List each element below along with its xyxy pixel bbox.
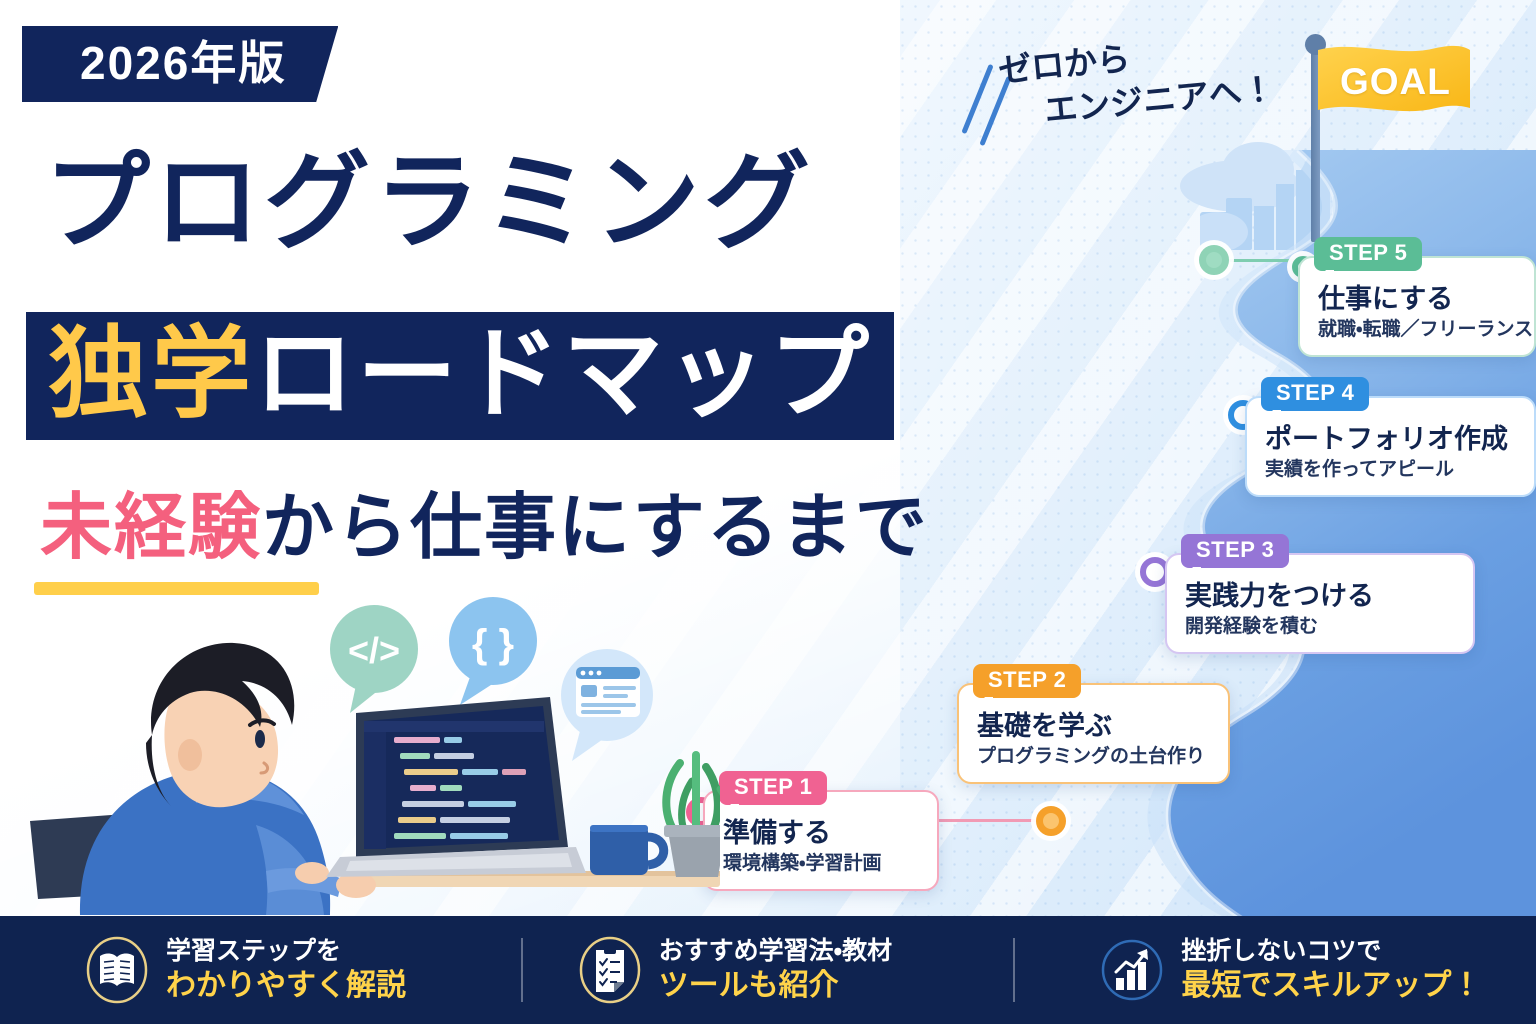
potted-plant xyxy=(664,755,720,877)
step-card-3[interactable]: STEP 3 実践力をつける 開発経験を積む xyxy=(1165,553,1475,654)
connector-step1-step2 xyxy=(938,819,1043,822)
step-card-1[interactable]: STEP 1 準備する 環境構築・学習計画 xyxy=(703,790,939,891)
step-sub-3: 開発経験を積む xyxy=(1185,616,1455,639)
step-badge-4: STEP 4 xyxy=(1261,377,1369,411)
programmer-illustration: </> { } xyxy=(20,585,720,915)
coffee-mug xyxy=(590,825,664,875)
subtitle-rest: から仕事にするまで xyxy=(262,488,929,568)
infographic-canvas: 2026年版 プログラミング 独学ロードマップ 未経験から仕事にするまで ゼロか… xyxy=(0,0,1536,1024)
svg-text:</>: </> xyxy=(348,630,400,671)
connector-step5 xyxy=(1226,259,1298,262)
route-node-step2 xyxy=(1036,806,1066,836)
ear xyxy=(178,739,202,771)
laptop xyxy=(326,697,586,877)
year-badge: 2026年版 xyxy=(22,26,338,102)
route-node-step5 xyxy=(1199,245,1229,275)
step-title-3: 実践力をつける xyxy=(1185,581,1455,611)
step-sub-5: 就職・転職／フリーランス xyxy=(1318,319,1516,342)
feature-item-1: 学習ステップを わかりやすく解説 xyxy=(0,936,521,1004)
feature-text-3: 挫折しないコツで 最短でスキルアップ！ xyxy=(1181,937,1481,1003)
subtitle-accent: 未経験 xyxy=(40,488,262,568)
growth-chart-icon xyxy=(1101,936,1163,1004)
step-title-2: 基礎を学ぶ xyxy=(977,711,1210,741)
feature-line2-2: ツールも紹介 xyxy=(659,969,893,1004)
goal-flag: GOAL xyxy=(1318,44,1470,126)
goal-flag-label: GOAL xyxy=(1340,63,1451,100)
step-badge-5: STEP 5 xyxy=(1314,237,1422,271)
svg-text:{ }: { } xyxy=(472,622,514,666)
step-badge-1: STEP 1 xyxy=(719,771,827,805)
step-title-4: ポートフォリオ作成 xyxy=(1265,424,1516,454)
feature-item-3: 挫折しないコツで 最短でスキルアップ！ xyxy=(1015,936,1536,1004)
eye xyxy=(255,730,265,748)
page-title-line1: プログラミング xyxy=(44,150,814,256)
page-subtitle: 未経験から仕事にするまで xyxy=(40,492,929,564)
feature-text-1: 学習ステップを わかりやすく解説 xyxy=(166,937,406,1003)
feature-text-2: おすすめ学習法・教材 ツールも紹介 xyxy=(659,937,893,1003)
step-title-1: 準備する xyxy=(723,818,919,848)
step-sub-4: 実績を作ってアピール xyxy=(1265,459,1516,482)
feature-line2-3: 最短でスキルアップ！ xyxy=(1181,969,1481,1004)
hand xyxy=(295,862,329,884)
step-sub-1: 環境構築・学習計画 xyxy=(723,853,919,876)
step-card-5[interactable]: STEP 5 仕事にする 就職・転職／フリーランス xyxy=(1298,256,1536,357)
speech-bubble-browser-icon xyxy=(561,649,653,761)
bottom-feature-bar: 学習ステップを わかりやすく解説 xyxy=(0,916,1536,1024)
step-sub-2: プログラミングの土台作り xyxy=(977,746,1210,769)
speech-bubble-code-icon: </> xyxy=(330,605,418,713)
feature-line1-2: おすすめ学習法・教材 xyxy=(659,937,893,966)
step-card-2[interactable]: STEP 2 基礎を学ぶ プログラミングの土台作り xyxy=(957,683,1230,784)
title-rest: ロードマップ xyxy=(254,318,872,430)
feature-item-2: おすすめ学習法・教材 ツールも紹介 xyxy=(523,936,1014,1004)
page-title-band: 独学ロードマップ xyxy=(26,312,894,440)
feature-line1-1: 学習ステップを xyxy=(166,937,406,966)
checklist-icon xyxy=(579,936,641,1004)
step-badge-3: STEP 3 xyxy=(1181,534,1289,568)
title-highlight: 独学 xyxy=(48,318,254,430)
feature-line2-1: わかりやすく解説 xyxy=(166,969,406,1004)
step-title-5: 仕事にする xyxy=(1318,284,1516,314)
handwritten-note: ゼロから エンジニアへ！ xyxy=(996,23,1276,137)
step-card-4[interactable]: STEP 4 ポートフォリオ作成 実績を作ってアピール xyxy=(1245,396,1536,497)
speech-bubble-braces-icon: { } xyxy=(449,597,537,705)
feature-line1-3: 挫折しないコツで xyxy=(1181,937,1481,966)
step-badge-2: STEP 2 xyxy=(973,664,1081,698)
open-book-icon xyxy=(86,936,148,1004)
